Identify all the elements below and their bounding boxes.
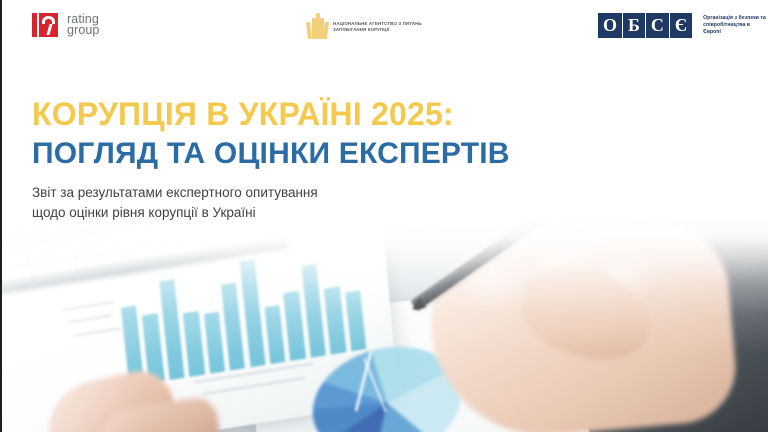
page-title: КОРУПЦІЯ В УКРАЇНІ 2025: ПОГЛЯД ТА ОЦІНК… (32, 96, 510, 172)
title-line-1: КОРУПЦІЯ В УКРАЇНІ 2025: (32, 96, 510, 132)
tryzub-icon (306, 13, 328, 41)
osce-lettermark: О Б С Є (598, 13, 692, 38)
nazk-caption: НАЦІОНАЛЬНЕ АГЕНТСТВО З ПИТАНЬ ЗАПОБІГАН… (333, 21, 429, 33)
logo-osce[interactable]: О Б С Є Організація з безпеки та співроб… (598, 13, 768, 38)
logo-row: rating group НАЦІОНАЛЬНЕ АГЕНТСТВО З ПИТ… (2, 0, 768, 58)
osce-letter-ye: Є (670, 13, 692, 38)
osce-letter-o: О (598, 13, 623, 38)
logo-rating-group[interactable]: rating group (32, 13, 99, 37)
report-cover-page: rating group НАЦІОНАЛЬНЕ АГЕНТСТВО З ПИТ… (0, 0, 768, 432)
rating-group-mark-icon (32, 13, 58, 37)
rating-group-wordmark: rating group (67, 14, 99, 37)
cover-content: rating group НАЦІОНАЛЬНЕ АГЕНТСТВО З ПИТ… (2, 0, 768, 432)
logo-nazk[interactable]: НАЦІОНАЛЬНЕ АГЕНТСТВО З ПИТАНЬ ЗАПОБІГАН… (306, 13, 429, 41)
page-subtitle: Звіт за результатами експертного опитува… (32, 183, 318, 223)
osce-letter-b: Б (623, 13, 646, 38)
subtitle-line-2: щодо оцінки рівня корупції в Україні (32, 203, 318, 223)
title-line-2: ПОГЛЯД ТА ОЦІНКИ ЕКСПЕРТІВ (32, 136, 510, 172)
rating-group-line2: group (67, 23, 99, 37)
osce-letter-s: С (646, 13, 670, 38)
subtitle-line-1: Звіт за результатами експертного опитува… (32, 183, 318, 203)
osce-caption: Організація з безпеки та співробітництва… (703, 15, 768, 36)
